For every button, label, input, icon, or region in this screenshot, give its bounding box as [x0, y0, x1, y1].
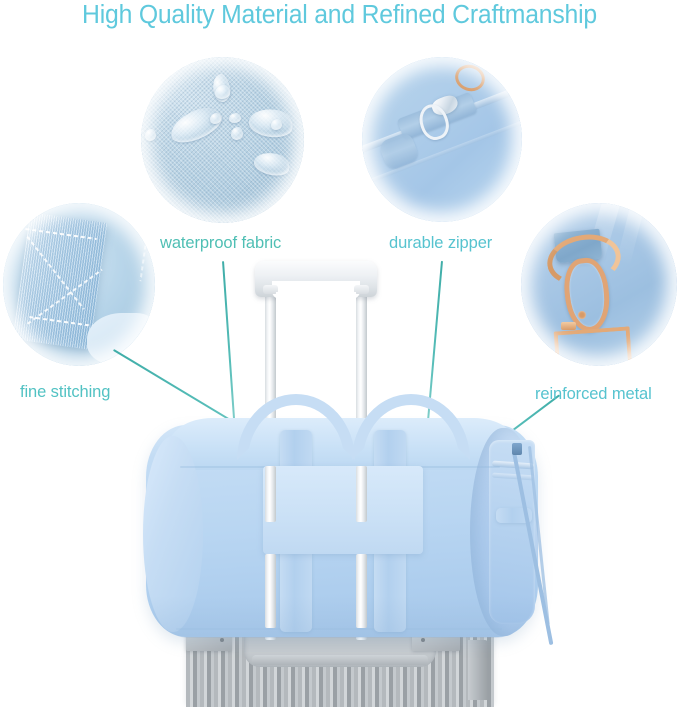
label-fine-stitching: fine stitching [20, 383, 110, 402]
detail-circle-reinforced-metal [521, 203, 677, 366]
bag-strap-clip [512, 443, 522, 455]
detail-circle-waterproof-fabric [141, 57, 304, 223]
label-reinforced-metal: reinforced metal [535, 385, 652, 404]
trolley-pole-left-front [265, 466, 276, 522]
bag-carry-handle-right [352, 394, 470, 460]
label-durable-zipper: durable zipper [389, 234, 492, 253]
suitcase-side-panel [468, 640, 488, 700]
trolley-pole-left-lower [265, 554, 276, 628]
page-title: High Quality Material and Refined Craftm… [10, 1, 669, 30]
detail-circle-durable-zipper [362, 57, 522, 222]
detail-circle-fine-stitching [3, 203, 155, 366]
bag-trolley-sleeve [263, 466, 423, 554]
product-infographic: High Quality Material and Refined Craftm… [0, 0, 679, 707]
label-waterproof-fabric: waterproof fabric [160, 234, 281, 253]
trolley-pole-right-front [356, 466, 367, 522]
trolley-pole-right-lower [356, 554, 367, 628]
fine-stitching-image [3, 203, 155, 366]
durable-zipper-image [362, 57, 522, 222]
reinforced-metal-image [521, 203, 677, 366]
waterproof-fabric-image [141, 57, 304, 223]
